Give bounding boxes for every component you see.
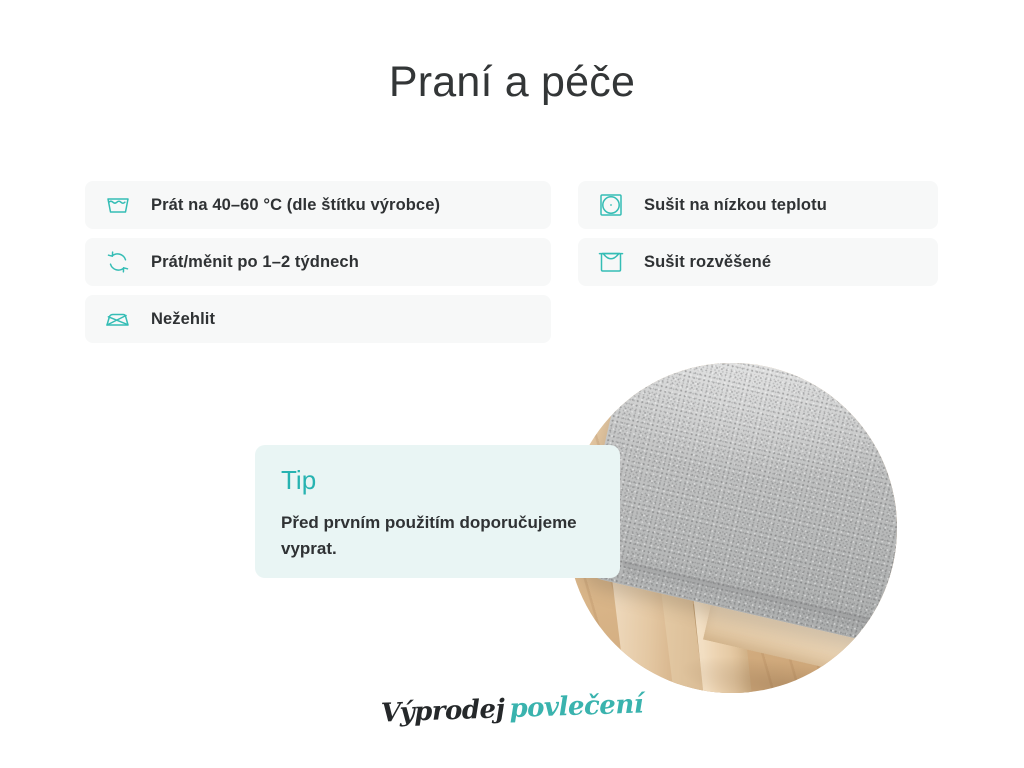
tip-body: Před prvním použitím doporučujeme vyprat… xyxy=(281,510,594,563)
care-item-label: Prát na 40–60 °C (dle štítku výrobce) xyxy=(151,196,440,215)
care-item-label: Sušit na nízkou teplotu xyxy=(644,196,827,215)
tumble-dry-low-icon xyxy=(596,190,626,220)
brand-logo-second-word: povlečení xyxy=(509,689,644,724)
care-instructions-left-column: Prát na 40–60 °C (dle štítku výrobce) Pr… xyxy=(85,181,551,343)
care-item-tumble-dry-low[interactable]: Sušit na nízkou teplotu xyxy=(578,181,938,229)
brand-logo-first-word: Výprodej xyxy=(380,694,505,728)
page-title: Praní a péče xyxy=(0,58,1024,107)
care-item-wash-frequency[interactable]: Prát/měnit po 1–2 týdnech xyxy=(85,238,551,286)
do-not-iron-icon xyxy=(103,304,133,334)
brand-logo[interactable]: Výprodejpovlečení xyxy=(0,676,1024,742)
refresh-cycle-icon xyxy=(103,247,133,277)
tip-card: Tip Před prvním použitím doporučujeme vy… xyxy=(255,445,620,578)
care-item-label: Sušit rozvěšené xyxy=(644,253,771,272)
line-dry-icon xyxy=(596,247,626,277)
tip-title: Tip xyxy=(281,467,594,493)
care-instructions-right-column: Sušit na nízkou teplotu Sušit rozvěšené xyxy=(578,181,938,286)
care-item-label: Prát/měnit po 1–2 týdnech xyxy=(151,253,359,272)
care-item-do-not-iron[interactable]: Nežehlit xyxy=(85,295,551,343)
wash-tub-icon xyxy=(103,190,133,220)
care-item-label: Nežehlit xyxy=(151,310,215,329)
care-item-line-dry[interactable]: Sušit rozvěšené xyxy=(578,238,938,286)
care-item-wash-temperature[interactable]: Prát na 40–60 °C (dle štítku výrobce) xyxy=(85,181,551,229)
